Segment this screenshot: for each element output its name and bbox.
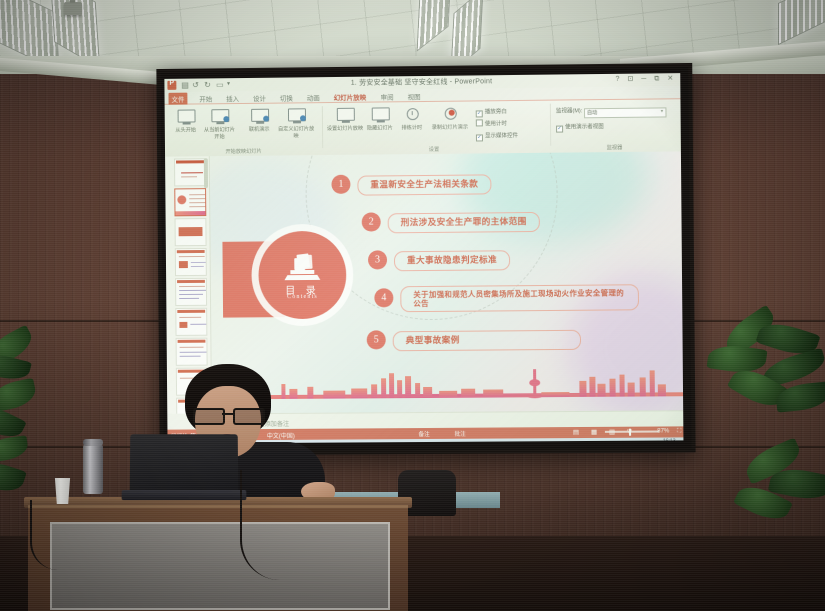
- button-label: 联机演示: [242, 127, 276, 134]
- agenda-pill[interactable]: 刑法涉及安全生产罪的主体范围: [388, 211, 540, 232]
- button-label: 自定义幻灯片放映: [276, 126, 316, 139]
- ceiling-vent: [64, 2, 82, 15]
- agenda-text: 刑法涉及安全生产罪的主体范围: [401, 217, 527, 228]
- thumbnail-slide[interactable]: 4: [175, 278, 207, 306]
- checkbox-label: 显示媒体控件: [485, 133, 518, 139]
- checkbox-label: 播放旁白: [485, 109, 507, 115]
- button-label: 设置幻灯片放映: [326, 126, 364, 133]
- agenda-pill[interactable]: 重大事故隐患判定标准: [394, 250, 510, 271]
- rehearse-timings-icon: [402, 105, 422, 124]
- record-slideshow-button[interactable]: 录制幻灯片演示: [430, 105, 470, 132]
- monitor-label: 监视器(M):: [556, 108, 582, 114]
- agenda-pill[interactable]: 典型事故案例: [393, 329, 581, 350]
- button-label: 从头开始: [169, 127, 203, 134]
- conference-room-scene: ▤ ↺ ↻ ▭ ▾ 1. 劳安安全基础 坚守安全红线 - PowerPoint …: [0, 0, 825, 611]
- zoom-slider-knob[interactable]: [629, 428, 631, 435]
- thumbnail-slide[interactable]: 2: [175, 218, 207, 246]
- monitor-selector[interactable]: 监视器(M): 自动: [556, 105, 666, 118]
- start-from-beginning-button[interactable]: 从头开始: [169, 107, 203, 134]
- agenda-text: 重大事故隐患判定标准: [407, 255, 497, 265]
- setup-slideshow-button[interactable]: 设置幻灯片放映: [326, 106, 364, 133]
- tab-animations[interactable]: 动画: [304, 91, 323, 103]
- tab-review[interactable]: 审阅: [378, 90, 397, 102]
- button-label: 录制幻灯片演示: [430, 125, 470, 132]
- thermos: [83, 444, 103, 494]
- start-from-current-button[interactable]: 从当前幻灯片开始: [202, 107, 236, 140]
- rehearse-timings-button[interactable]: 排练计时: [396, 105, 428, 132]
- tab-file[interactable]: 文件: [168, 93, 187, 105]
- tab-view[interactable]: 视图: [405, 90, 424, 102]
- button-label: 排练计时: [396, 125, 428, 132]
- thumbnail-slide[interactable]: 3: [175, 248, 207, 276]
- fit-to-window-icon[interactable]: ⛶: [677, 428, 681, 435]
- button-label: 隐藏幻灯片: [366, 125, 394, 132]
- ribbon-separator: [550, 104, 551, 146]
- checkbox-label: 使用演示者视图: [565, 124, 604, 130]
- tab-home[interactable]: 开始: [196, 92, 215, 104]
- thumbnail-slide[interactable]: 0: [174, 158, 206, 186]
- checkbox-show-media-controls[interactable]: ✓显示媒体控件: [476, 131, 518, 141]
- ribbon-separator: [322, 106, 323, 148]
- tab-slideshow[interactable]: 幻灯片放映: [331, 91, 370, 103]
- hide-slide-icon: [370, 105, 390, 124]
- present-online-button[interactable]: 联机演示: [242, 107, 276, 134]
- contents-circle: 目 录 Contents: [258, 231, 346, 320]
- battery-indicator[interactable]: 99%: [593, 440, 621, 443]
- group-label-monitors: 监视器: [552, 143, 677, 151]
- window-controls[interactable]: ? ⊡ ─ ⧉ ✕: [615, 74, 676, 84]
- potted-plant-left: [0, 330, 72, 500]
- agenda-number: 3: [368, 250, 387, 269]
- thumbnail-slide[interactable]: 6: [176, 338, 208, 366]
- custom-slideshow-button[interactable]: 自定义幻灯片放映: [276, 106, 316, 139]
- agenda-text: 典型事故案例: [406, 336, 460, 346]
- potted-plant-right: [700, 318, 825, 528]
- comments-button-label: 批注: [455, 431, 466, 437]
- agenda-number: 2: [362, 212, 381, 231]
- hide-slide-button[interactable]: 隐藏幻灯片: [366, 105, 394, 132]
- clock-area[interactable]: 16:13 2024/6/24: [658, 438, 681, 443]
- thumbnail-slide[interactable]: 1: [174, 188, 206, 216]
- button-label: 从当前幻灯片开始: [203, 127, 237, 140]
- record-slideshow-icon: [440, 105, 460, 124]
- agenda-text: 关于加强和规范人员密集场所及施工现场动火作业安全管理的公告: [413, 288, 626, 308]
- tab-design[interactable]: 设计: [250, 92, 269, 104]
- contents-title-en: Contents: [259, 294, 347, 301]
- agenda-text: 重温新安全生产法相关条款: [370, 179, 478, 190]
- monitor-dropdown[interactable]: 自动: [584, 107, 667, 118]
- laptop: [130, 434, 239, 492]
- start-from-current-icon: [209, 107, 229, 126]
- present-online-icon: [249, 107, 269, 126]
- custom-slideshow-icon: [286, 106, 306, 125]
- agenda-number: 5: [367, 330, 386, 349]
- agenda-number: 4: [374, 288, 393, 307]
- checkbox-use-presenter-view[interactable]: ✓使用演示者视图: [556, 122, 604, 133]
- taskbar-time: 16:13: [658, 438, 680, 443]
- notes-button-label: 备注: [418, 431, 429, 437]
- glasses: [193, 408, 263, 421]
- start-from-beginning-icon: [176, 107, 196, 126]
- comments-toggle[interactable]: 批注: [454, 429, 465, 437]
- zoom-slider[interactable]: [605, 431, 659, 433]
- agenda-number: 1: [331, 175, 350, 194]
- agenda-pill[interactable]: 重温新安全生产法相关条款: [357, 174, 491, 195]
- tab-transitions[interactable]: 切换: [277, 91, 296, 103]
- book-laptop-icon: [280, 253, 324, 283]
- setup-slideshow-icon: [335, 106, 355, 125]
- podium: [28, 505, 408, 611]
- thumbnail-slide[interactable]: 5: [175, 308, 207, 336]
- tab-insert[interactable]: 插入: [223, 92, 242, 104]
- cable: [240, 470, 302, 580]
- notes-toggle[interactable]: 备注: [418, 429, 429, 437]
- ribbon[interactable]: 从头开始 从当前幻灯片开始 联机演示 自定义幻灯片放映 开始放映幻灯片: [165, 99, 681, 157]
- zoom-level[interactable]: 87%: [657, 428, 669, 434]
- agenda-pill[interactable]: 关于加强和规范人员密集场所及施工现场动火作业安全管理的公告: [400, 284, 639, 312]
- checkbox-use-timings[interactable]: 使用计时: [476, 119, 507, 127]
- checkbox-play-narrations[interactable]: ✓播放旁白: [476, 107, 507, 117]
- thumbnail-scrollbar[interactable]: [204, 158, 208, 188]
- checkbox-label: 使用计时: [485, 121, 507, 127]
